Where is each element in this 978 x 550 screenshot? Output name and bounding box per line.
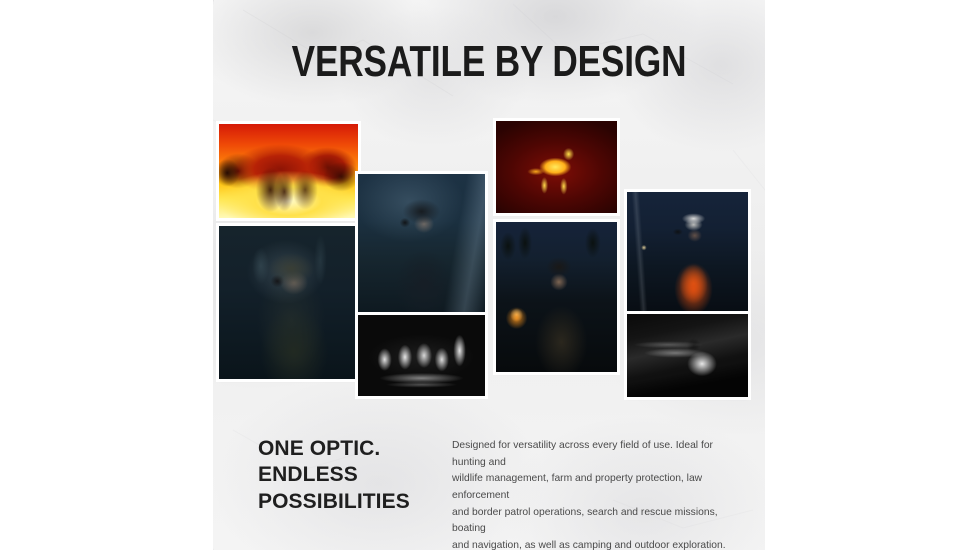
night-hunter-art [219,226,358,379]
collage-image-boater-dusk [358,174,485,313]
poster-canvas: VERSATILE BY DESIGN ONE OPTIC. ENDLE [0,0,978,550]
subheadline-line-2: ENDLESS [258,462,438,488]
body-paragraph: Designed for versatility across every fi… [452,438,744,550]
camper-firelight-art [496,222,617,372]
body-line-1: Designed for versatility across every fi… [452,438,744,471]
collage-image-thermal-coyote [496,121,617,213]
collage-image-thermal-hogs [219,124,358,218]
collage-image-hivis-worker [627,192,748,313]
boater-dusk-art [358,174,485,313]
subheadline: ONE OPTIC. ENDLESS POSSIBILITIES [258,436,438,515]
night-vision-bridge-art [627,314,748,397]
body-line-2: wildlife management, farm and property p… [452,471,744,504]
body-line-3: and border patrol operations, search and… [452,505,744,538]
subheadline-line-1: ONE OPTIC. [258,436,438,462]
hivis-worker-art [627,192,748,313]
subheadline-line-3: POSSIBILITIES [258,489,438,515]
thermal-hogs-art [219,124,358,218]
collage-image-thermal-boat-crew [358,315,485,396]
body-line-4: and navigation, as well as camping and o… [452,538,744,550]
collage-image-night-vision-bridge [627,314,748,397]
collage-image-night-hunter [219,226,358,379]
thermal-coyote-art [496,121,617,213]
thermal-boat-crew-art [358,315,485,396]
collage-image-camper-firelight [496,222,617,372]
